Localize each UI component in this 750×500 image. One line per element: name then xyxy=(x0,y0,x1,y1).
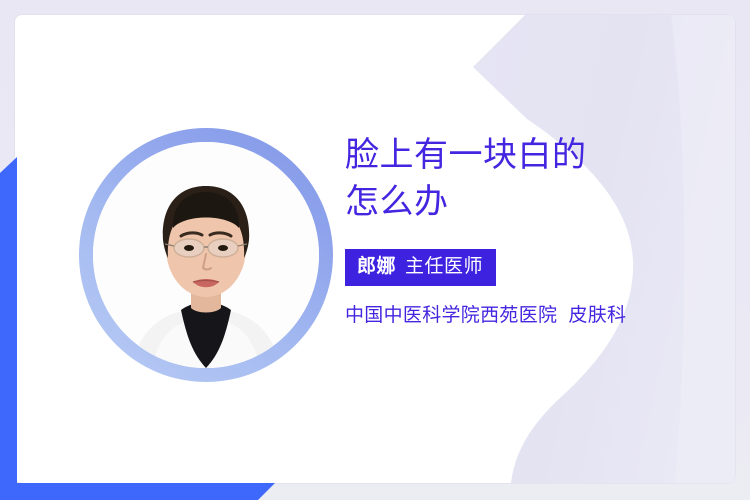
avatar-photo xyxy=(93,142,319,368)
doctor-badge: 郎娜主任医师 xyxy=(345,249,496,286)
poster-root: 脸上有一块白的 怎么办 郎娜主任医师 中国中医科学院西苑医院 皮肤科 xyxy=(0,0,750,500)
content-card: 脸上有一块白的 怎么办 郎娜主任医师 中国中医科学院西苑医院 皮肤科 xyxy=(15,15,735,483)
doctor-portrait-icon xyxy=(93,142,319,368)
avatar xyxy=(79,128,333,382)
text-column: 脸上有一块白的 怎么办 郎娜主任医师 中国中医科学院西苑医院 皮肤科 xyxy=(345,132,705,329)
affiliation-text: 中国中医科学院西苑医院 皮肤科 xyxy=(345,303,705,329)
doctor-rank: 主任医师 xyxy=(405,256,483,277)
blue-accent-bottom xyxy=(0,483,292,500)
blue-accent-left xyxy=(0,157,17,500)
doctor-name: 郎娜 xyxy=(357,256,396,277)
page-title: 脸上有一块白的 怎么办 xyxy=(345,132,705,226)
